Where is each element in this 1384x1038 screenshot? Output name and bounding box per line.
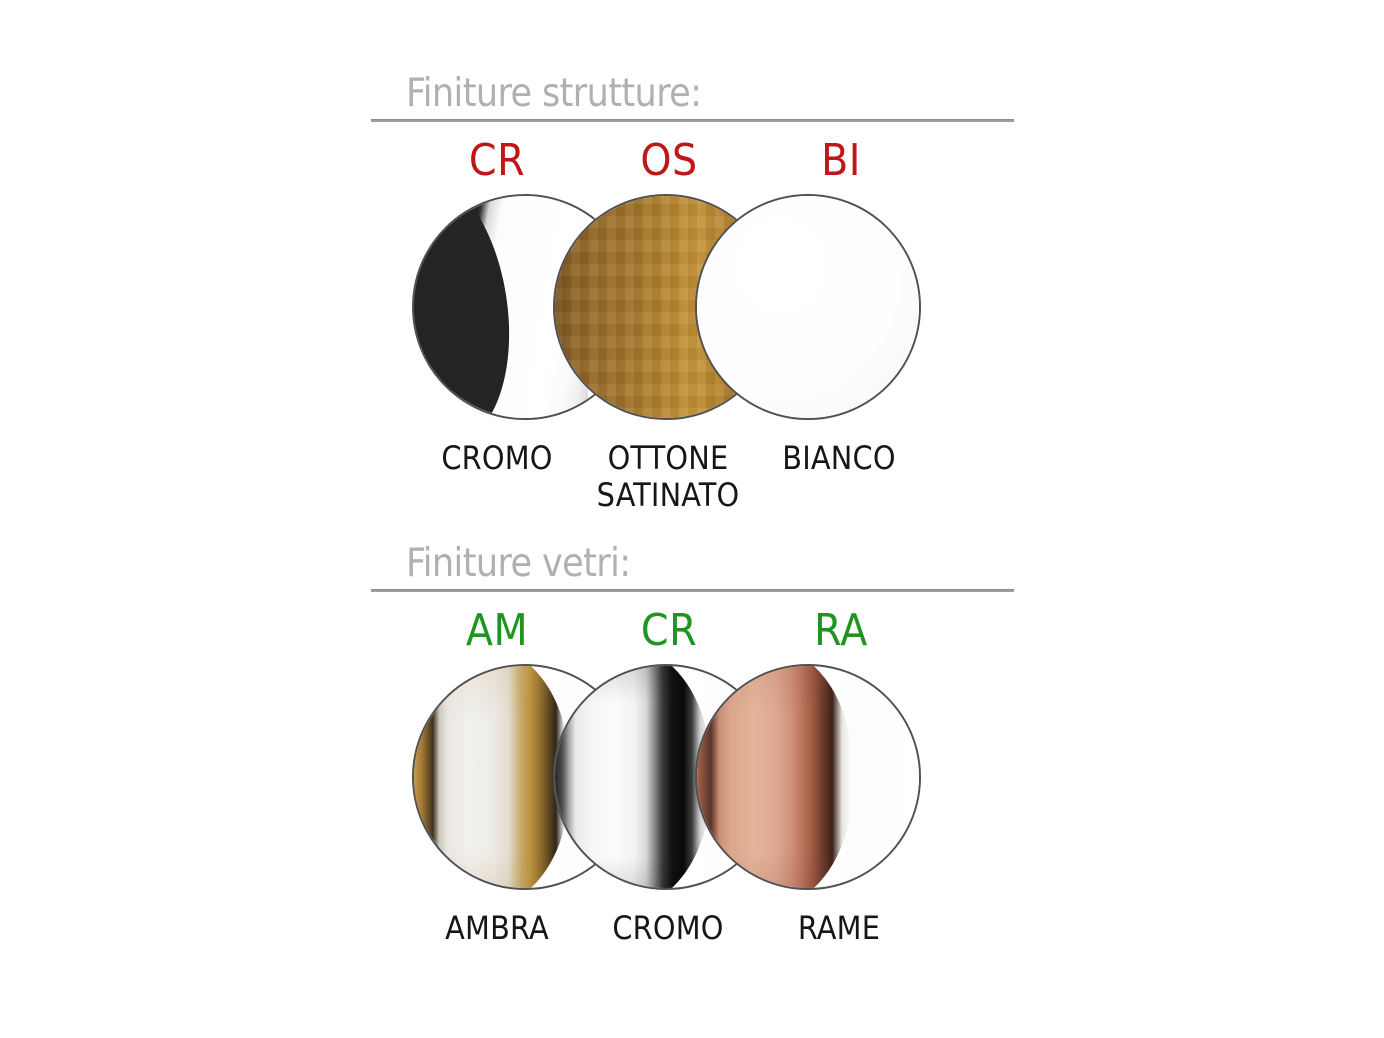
finish-code-ra-vetri[interactable]: RA — [781, 602, 901, 660]
swatch-label-line1: BIANCO — [739, 440, 939, 477]
swatch-fill-amber-glass — [412, 664, 569, 890]
finish-code-cr-strutture[interactable]: CR — [437, 132, 557, 190]
finishes-board: Finiture strutture: CR OS BI CROMO OTTON… — [0, 0, 1384, 1038]
swatch-label-line1: RAME — [739, 910, 939, 947]
swatch-label-line1: CROMO — [397, 440, 597, 477]
finish-code-am-vetri[interactable]: AM — [437, 602, 557, 660]
section-finiture-strutture: Finiture strutture: CR OS BI CROMO OTTON… — [371, 70, 1014, 530]
swatch-backdrop — [844, 666, 919, 888]
label-row-strutture: CROMO OTTONE SATINATO BIANCO — [371, 440, 1014, 530]
swatch-label-rame: RAME — [739, 910, 939, 947]
code-row-strutture: CR OS BI — [371, 132, 1014, 194]
finish-code-bi-strutture[interactable]: BI — [781, 132, 901, 190]
swatch-rame-vetro[interactable] — [695, 664, 921, 890]
swatch-bianco[interactable] — [695, 194, 921, 420]
section-finiture-vetri: Finiture vetri: AM CR RA AMBRA — [371, 540, 1014, 1000]
swatch-label-line1: CROMO — [568, 910, 768, 947]
swatch-label-line2: SATINATO — [568, 477, 768, 514]
section-heading-vetri: Finiture vetri: — [371, 540, 1014, 588]
swatch-label-cromo-struttura: CROMO — [397, 440, 597, 477]
swatch-fill-chrome-glass — [553, 664, 710, 890]
swatch-fill-white — [695, 194, 921, 420]
finish-code-os-strutture[interactable]: OS — [609, 132, 729, 190]
section-heading-strutture: Finiture strutture: — [371, 70, 1014, 118]
label-row-vetri: AMBRA CROMO RAME — [371, 910, 1014, 1000]
swatch-label-ambra: AMBRA — [397, 910, 597, 947]
swatch-label-line1: AMBRA — [397, 910, 597, 947]
swatch-label-cromo-vetro: CROMO — [568, 910, 768, 947]
swatch-label-bianco: BIANCO — [739, 440, 939, 477]
swatch-fill-copper-glass — [695, 664, 852, 890]
swatch-row-vetri — [371, 664, 1014, 896]
swatch-row-strutture — [371, 194, 1014, 426]
section-divider-strutture — [371, 119, 1014, 122]
finish-code-cr-vetri[interactable]: CR — [609, 602, 729, 660]
swatch-label-ottone-satinato: OTTONE SATINATO — [568, 440, 768, 514]
section-divider-vetri — [371, 589, 1014, 592]
swatch-label-line1: OTTONE — [568, 440, 768, 477]
code-row-vetri: AM CR RA — [371, 602, 1014, 664]
